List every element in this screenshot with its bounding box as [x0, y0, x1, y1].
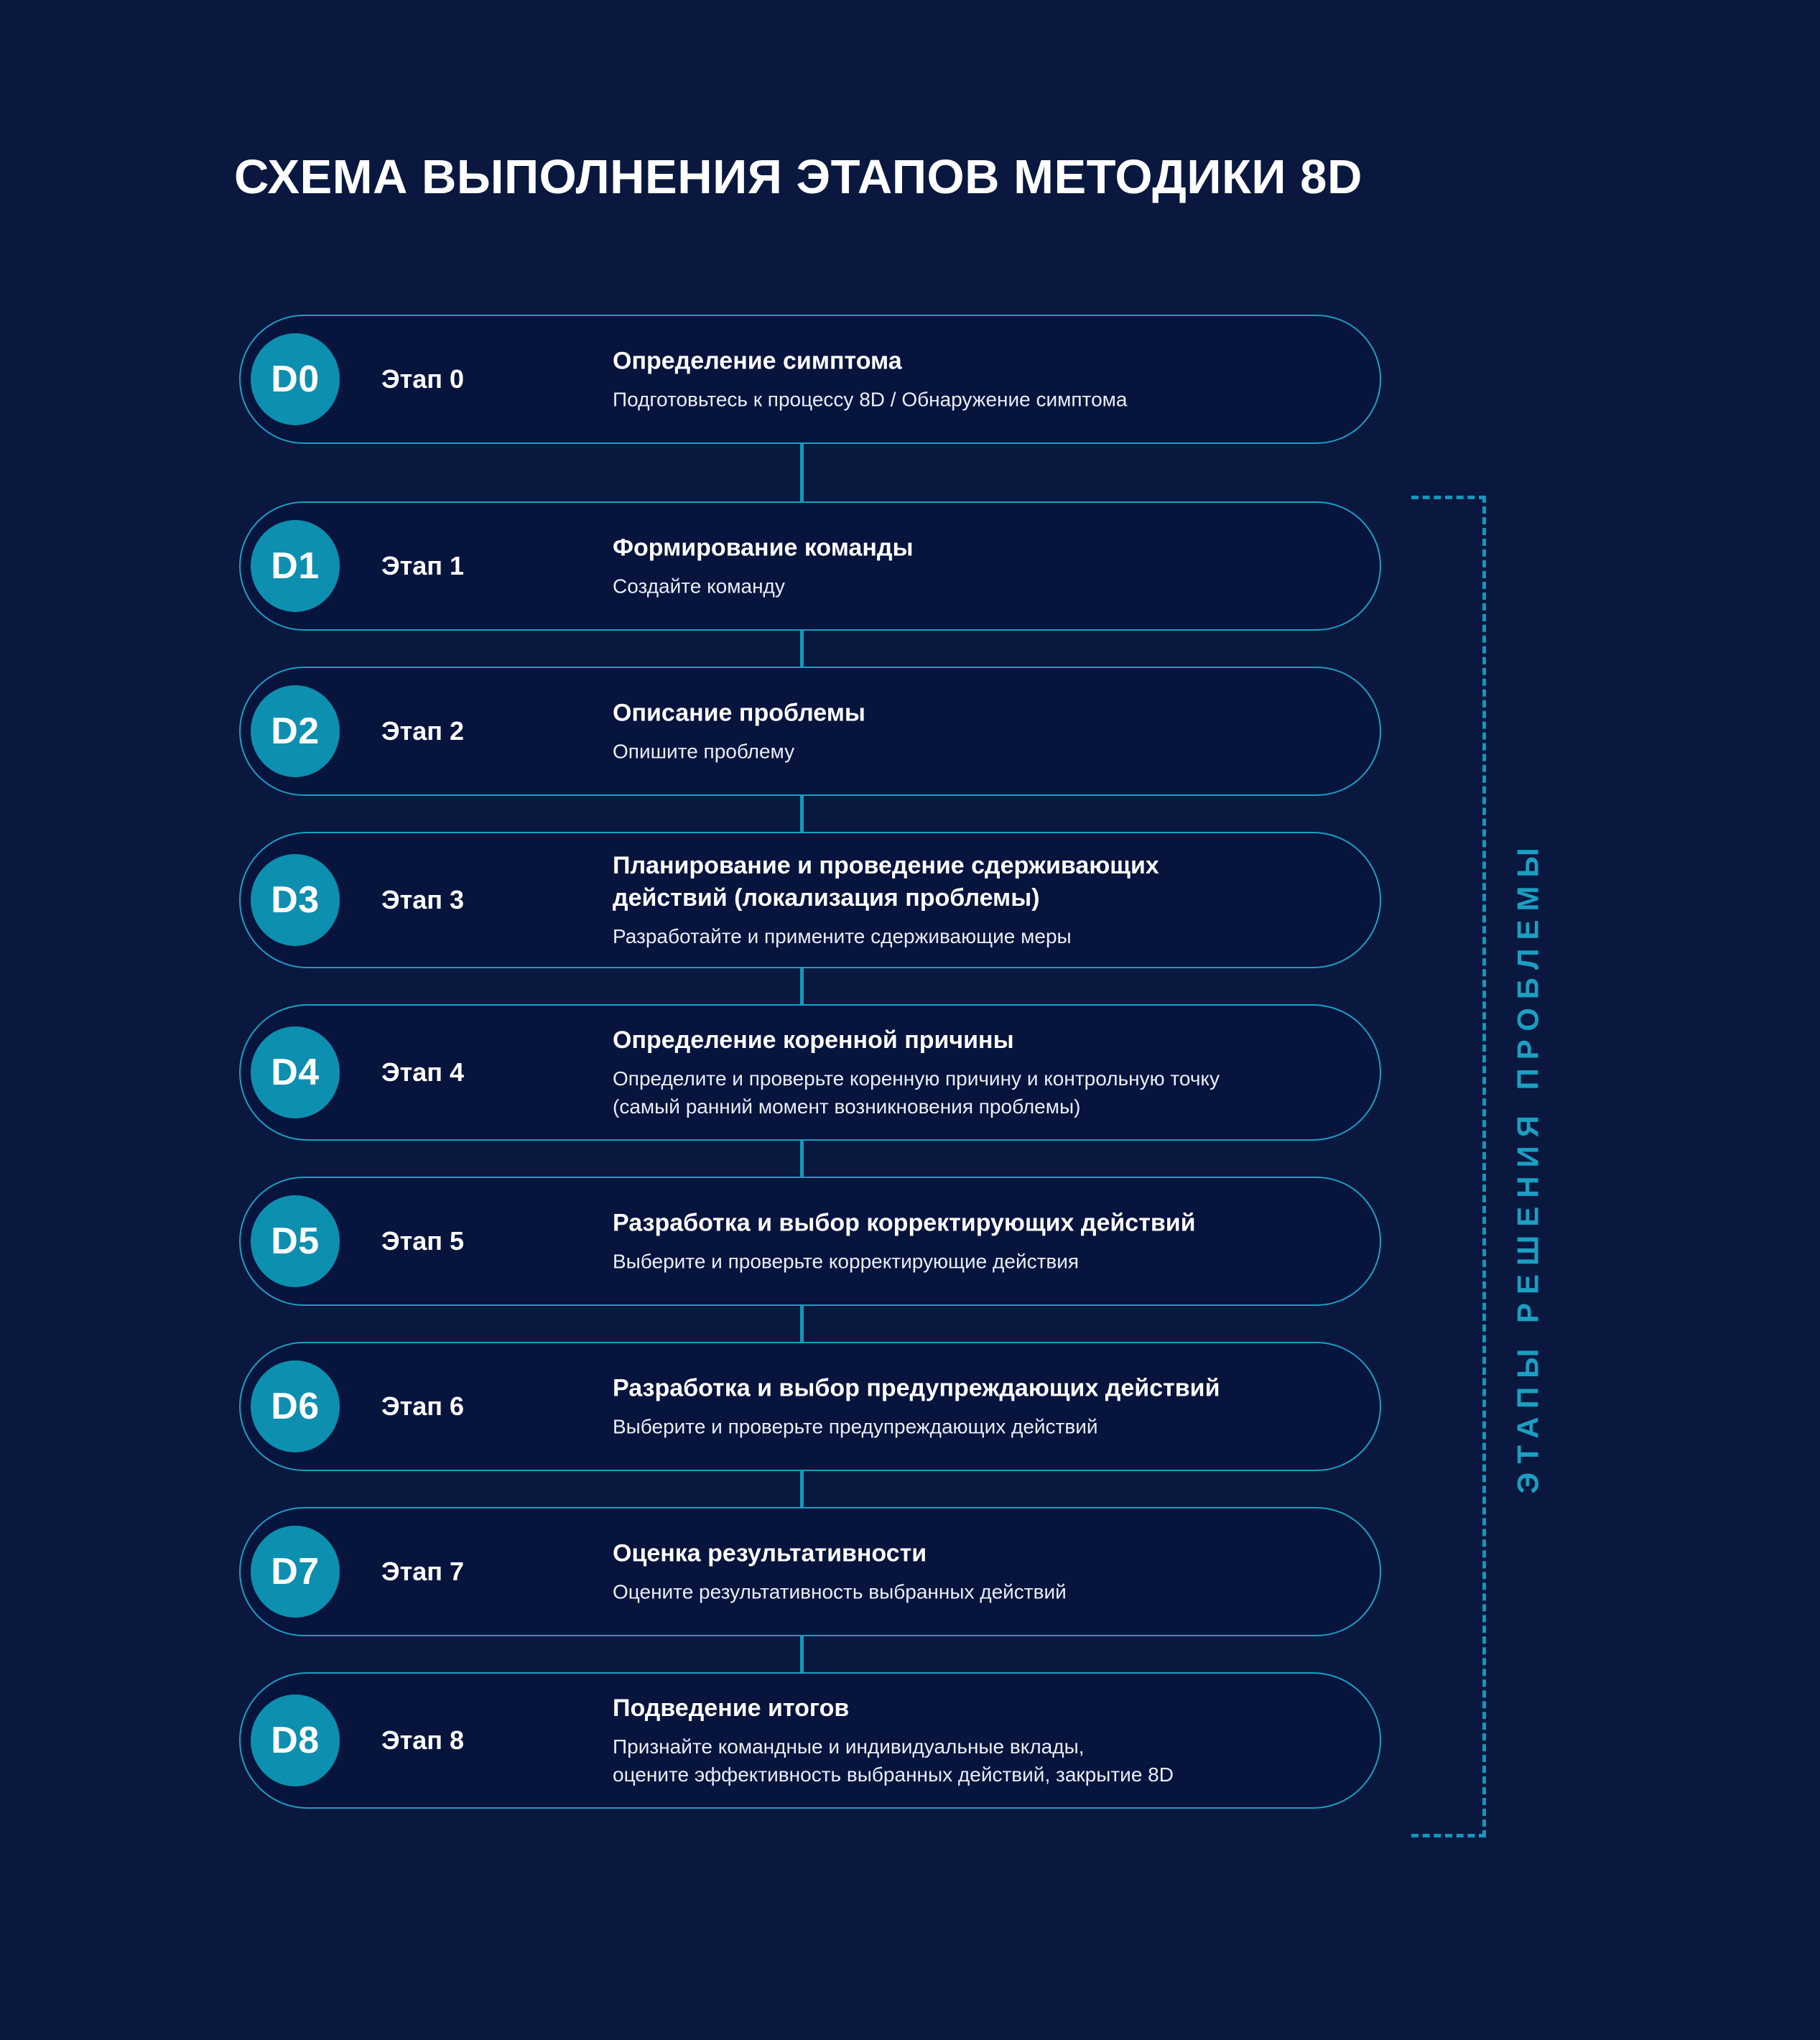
- step-desc-d8: Признайте командные и индивидуальные вкл…: [613, 1733, 1351, 1789]
- step-wrap-d4: D4 Этап 4 Определение коренной причины О…: [239, 1004, 1381, 1141]
- step-content-d2: Описание проблемы Опишите проблему: [613, 697, 1351, 766]
- step-stage-d3: Этап 3: [381, 885, 464, 915]
- step-content-d0: Определение симптома Подготовьтесь к про…: [613, 345, 1351, 414]
- step-stage-d0: Этап 0: [381, 364, 464, 394]
- step-stage-d1: Этап 1: [381, 551, 464, 581]
- step-content-d8: Подведение итогов Признайте командные и …: [613, 1692, 1351, 1789]
- step-card-d8[interactable]: D8 Этап 8 Подведение итогов Признайте ко…: [239, 1672, 1381, 1809]
- step-desc-d2: Опишите проблему: [613, 738, 1351, 766]
- step-desc-d4: Определите и проверьте коренную причину …: [613, 1065, 1351, 1121]
- step-card-d2[interactable]: D2 Этап 2 Описание проблемы Опишите проб…: [239, 667, 1381, 796]
- step-badge-d5: D5: [251, 1195, 340, 1287]
- step-card-d3[interactable]: D3 Этап 3 Планирование и проведение сдер…: [239, 832, 1381, 968]
- step-connector-d5: [800, 1141, 804, 1177]
- step-content-d7: Оценка результативности Оцените результа…: [613, 1537, 1351, 1606]
- step-stage-d4: Этап 4: [381, 1057, 464, 1088]
- step-stage-d2: Этап 2: [381, 716, 464, 746]
- step-title-d7: Оценка результативности: [613, 1537, 1351, 1570]
- step-content-d1: Формирование команды Создайте команду: [613, 532, 1351, 601]
- step-card-d7[interactable]: D7 Этап 7 Оценка результативности Оценит…: [239, 1507, 1381, 1636]
- step-stage-d6: Этап 6: [381, 1391, 464, 1422]
- step-badge-d2: D2: [251, 685, 340, 777]
- step-wrap-d1: D1 Этап 1 Формирование команды Создайте …: [239, 501, 1381, 631]
- step-title-d6: Разработка и выбор предупреждающих дейст…: [613, 1372, 1351, 1404]
- step-desc-d3: Разработайте и примените сдерживающие ме…: [613, 923, 1164, 951]
- step-stage-d5: Этап 5: [381, 1226, 464, 1256]
- step-card-d1[interactable]: D1 Этап 1 Формирование команды Создайте …: [239, 501, 1381, 631]
- step-wrap-d6: D6 Этап 6 Разработка и выбор предупрежда…: [239, 1342, 1381, 1471]
- step-wrap-d2: D2 Этап 2 Описание проблемы Опишите проб…: [239, 667, 1381, 796]
- step-stage-d8: Этап 8: [381, 1725, 464, 1756]
- step-card-d6[interactable]: D6 Этап 6 Разработка и выбор предупрежда…: [239, 1342, 1381, 1471]
- step-badge-d3: D3: [251, 854, 340, 946]
- step-desc-d0: Подготовьтесь к процессу 8D / Обнаружени…: [613, 386, 1351, 414]
- steps-flow: D0 Этап 0 Определение симптома Подготовь…: [239, 315, 1381, 1809]
- step-card-d4[interactable]: D4 Этап 4 Определение коренной причины О…: [239, 1004, 1381, 1141]
- step-wrap-d8: D8 Этап 8 Подведение итогов Признайте ко…: [239, 1672, 1381, 1809]
- step-desc-d1: Создайте команду: [613, 572, 1351, 601]
- step-badge-d0: D0: [251, 333, 340, 425]
- step-badge-d1: D1: [251, 520, 340, 612]
- step-title-d2: Описание проблемы: [613, 697, 1351, 729]
- step-title-d8: Подведение итогов: [613, 1692, 1351, 1725]
- side-caption: ЭТАПЫ РЕШЕНИЯ ПРОБЛЕМЫ: [1485, 496, 1571, 1837]
- step-title-d4: Определение коренной причины: [613, 1024, 1351, 1057]
- step-content-d6: Разработка и выбор предупреждающих дейст…: [613, 1372, 1351, 1441]
- page-title: СХЕМА ВЫПОЛНЕНИЯ ЭТАПОВ МЕТОДИКИ 8D: [234, 149, 1362, 205]
- step-badge-d8: D8: [251, 1694, 340, 1786]
- step-card-d0[interactable]: D0 Этап 0 Определение симптома Подготовь…: [239, 315, 1381, 444]
- step-wrap-d0: D0 Этап 0 Определение симптома Подготовь…: [239, 315, 1381, 444]
- step-connector-d6: [800, 1306, 804, 1342]
- step-connector-d1: [800, 444, 804, 501]
- step-title-d5: Разработка и выбор корректирующих действ…: [613, 1207, 1351, 1239]
- step-content-d3: Планирование и проведение сдерживающих д…: [613, 850, 1164, 950]
- side-caption-label: ЭТАПЫ РЕШЕНИЯ ПРОБЛЕМЫ: [1511, 839, 1546, 1493]
- step-badge-d7: D7: [251, 1526, 340, 1618]
- step-badge-d6: D6: [251, 1360, 340, 1452]
- step-card-d5[interactable]: D5 Этап 5 Разработка и выбор корректирую…: [239, 1177, 1381, 1306]
- step-wrap-d7: D7 Этап 7 Оценка результативности Оценит…: [239, 1507, 1381, 1636]
- step-content-d4: Определение коренной причины Определите …: [613, 1024, 1351, 1121]
- step-stage-d7: Этап 7: [381, 1557, 464, 1587]
- step-connector-d4: [800, 968, 804, 1004]
- step-desc-d6: Выберите и проверьте предупреждающих дей…: [613, 1413, 1351, 1441]
- step-desc-d5: Выберите и проверьте корректирующие дейс…: [613, 1248, 1351, 1276]
- step-title-d3: Планирование и проведение сдерживающих д…: [613, 850, 1164, 914]
- step-connector-d3: [800, 796, 804, 832]
- step-content-d5: Разработка и выбор корректирующих действ…: [613, 1207, 1351, 1276]
- problem-solving-bracket: [1411, 496, 1486, 1837]
- step-connector-d2: [800, 631, 804, 667]
- step-title-d1: Формирование команды: [613, 532, 1351, 564]
- step-connector-d7: [800, 1471, 804, 1507]
- step-title-d0: Определение симптома: [613, 345, 1351, 377]
- step-badge-d4: D4: [251, 1026, 340, 1118]
- step-connector-d8: [800, 1636, 804, 1672]
- step-wrap-d3: D3 Этап 3 Планирование и проведение сдер…: [239, 832, 1381, 968]
- step-desc-d7: Оцените результативность выбранных дейст…: [613, 1578, 1351, 1606]
- step-wrap-d5: D5 Этап 5 Разработка и выбор корректирую…: [239, 1177, 1381, 1306]
